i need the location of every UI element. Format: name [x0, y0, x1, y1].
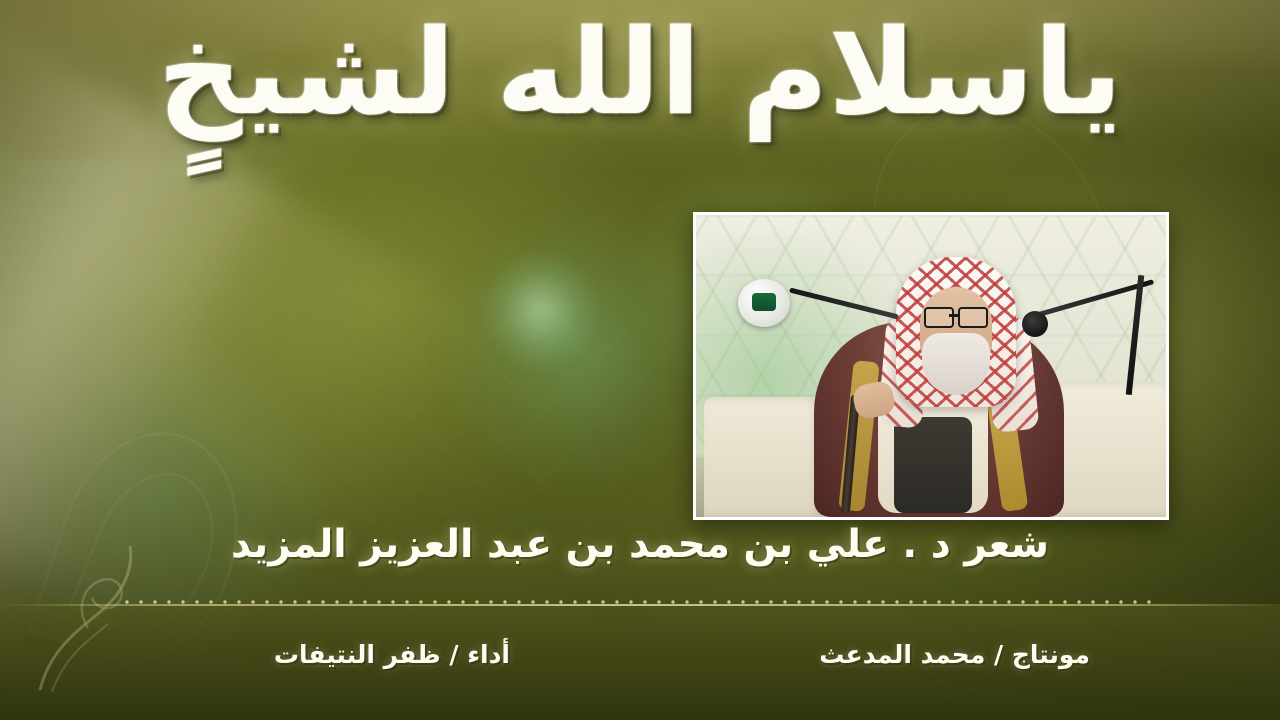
- glasses-right-lens: [958, 307, 988, 328]
- headline-title: ياسلام الله لشيخٍ: [0, 6, 1280, 138]
- thobe-inner: [894, 417, 972, 513]
- glasses-left-lens: [924, 307, 954, 328]
- chair-armrest-right: [1046, 382, 1166, 517]
- credit-editor: مونتاج / محمد المدعث: [819, 640, 1090, 669]
- sheikh-portrait: [693, 212, 1169, 520]
- chair-armrest-left: [704, 397, 822, 517]
- credit-performer: أداء / ظفر النتيفات: [274, 640, 510, 669]
- microphone-head-right: [1022, 311, 1048, 337]
- video-frame: ياسلام الله لشيخٍ شعر د . علي بن: [0, 0, 1280, 720]
- glasses-bridge: [949, 314, 960, 317]
- poet-credit: شعر د . علي بن محمد بن عبد العزيز المزيد: [0, 522, 1280, 567]
- corner-ornament-icon: [30, 540, 150, 700]
- separator-dots: [120, 598, 1160, 606]
- microphone-logo-flag: [752, 293, 776, 311]
